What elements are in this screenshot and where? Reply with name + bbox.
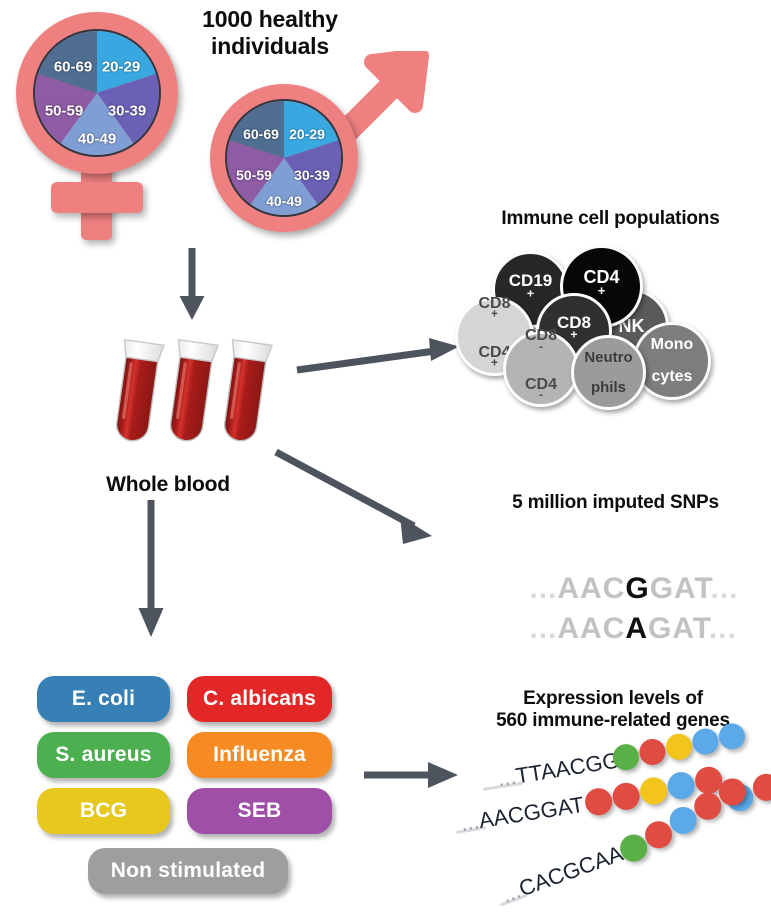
- immune-cell-neutrophils-label: Neutrophils: [584, 350, 632, 396]
- snp-suffix-2: ...: [709, 612, 737, 645]
- stimulus-e-coli[interactable]: E. coli: [37, 676, 170, 722]
- stimulus-e-coli-label: E. coli: [72, 687, 135, 711]
- gene-strand-1-bead-3: [664, 732, 694, 762]
- stimulus-c-albicans[interactable]: C. albicans: [187, 676, 332, 722]
- immune-cell-cd19-label: CD19+: [509, 272, 552, 307]
- whole-blood-label: Whole blood: [78, 473, 258, 498]
- whole-blood-tubes: [105, 335, 295, 465]
- immune-cell-monocytes: Monocytes: [633, 322, 711, 400]
- snp-right-2: GAT: [648, 612, 709, 645]
- gene-strands-group: ...TTAACGG ...AACGGAT ...CACGCAA: [460, 730, 771, 920]
- gene-strand-2-bead-1: [583, 786, 614, 817]
- snp-sequence-row-2: ...AACAGAT...: [492, 578, 737, 680]
- gene-strand-1-text: ...TTAACGG: [496, 747, 622, 792]
- stimulus-bcg[interactable]: BCG: [37, 788, 170, 834]
- stimulus-s-aureus-label: S. aureus: [55, 743, 151, 767]
- stimulus-seb[interactable]: SEB: [187, 788, 332, 834]
- stimulus-c-albicans-label: C. albicans: [203, 687, 316, 711]
- female-age-pie: 20-29 30-39 40-49 50-59 60-69: [33, 29, 161, 157]
- male-age-pie: 20-29 30-39 40-49 50-59 60-69: [225, 99, 343, 217]
- arrow-blood-to-snps: [272, 448, 462, 558]
- immune-cell-cluster: NK CD19+ CD4+ CD8+ CD4+ CD8+ Monocytes C…: [455, 245, 745, 410]
- female-gender-symbol: 20-29 30-39 40-49 50-59 60-69: [8, 8, 198, 238]
- snp-prefix-2: ...: [529, 612, 557, 645]
- stimulus-bcg-label: BCG: [80, 799, 127, 823]
- male-age-pie-svg: [227, 101, 341, 215]
- gene-strand-2-bead-2: [611, 781, 642, 812]
- arrow-blood-to-stimuli: [137, 500, 177, 645]
- arrow-blood-to-immune: [293, 330, 473, 390]
- male-gender-symbol: 20-29 30-39 40-49 50-59 60-69: [208, 56, 423, 246]
- arrow-cohort-to-blood: [178, 248, 218, 328]
- gene-strand-1-bead-2: [638, 737, 668, 767]
- snps-title: 5 million imputed SNPs: [460, 492, 771, 514]
- cohort-title-line1: 1000 healthy: [170, 6, 370, 33]
- female-symbol-crossbar: [51, 182, 143, 213]
- gene-strand-2-text: ...AACGGAT: [459, 792, 586, 837]
- immune-populations-title: Immune cell populations: [450, 208, 771, 230]
- stimulus-non-stimulated[interactable]: Non stimulated: [88, 848, 288, 894]
- blood-tubes-svg: [105, 335, 295, 460]
- snp-left-2: AAC: [557, 612, 625, 645]
- immune-cell-cd8-cd4-negative-label: CD8- CD4-: [525, 328, 557, 410]
- stimulus-s-aureus[interactable]: S. aureus: [37, 732, 170, 778]
- snp-variant-2: A: [625, 612, 648, 645]
- immune-cell-cd8-cd4-negative: CD8- CD4-: [503, 331, 579, 407]
- figure-canvas: 1000 healthy individuals 20-29 30-39 40-…: [0, 0, 771, 922]
- stimulus-influenza-label: Influenza: [213, 743, 306, 767]
- gene-strand-2-bead-3: [638, 776, 669, 807]
- immune-cell-monocytes-label: Monocytes: [651, 337, 694, 386]
- stimulus-seb-label: SEB: [238, 799, 282, 823]
- stimulus-influenza[interactable]: Influenza: [187, 732, 332, 778]
- gene-strand-1-bead-4: [691, 727, 721, 757]
- expression-title-line1: Expression levels of: [455, 688, 771, 710]
- stimulus-non-stimulated-label: Non stimulated: [111, 859, 265, 883]
- arrow-stimuli-to-expression: [362, 756, 472, 796]
- gene-strand-2-bead-4: [666, 770, 697, 801]
- female-age-pie-svg: [35, 31, 159, 155]
- gene-strand-3-text: ...CACGCAA: [498, 841, 626, 909]
- immune-cell-neutrophils: Neutrophils: [571, 335, 646, 410]
- gene-strand-2-bead-7: [751, 772, 771, 803]
